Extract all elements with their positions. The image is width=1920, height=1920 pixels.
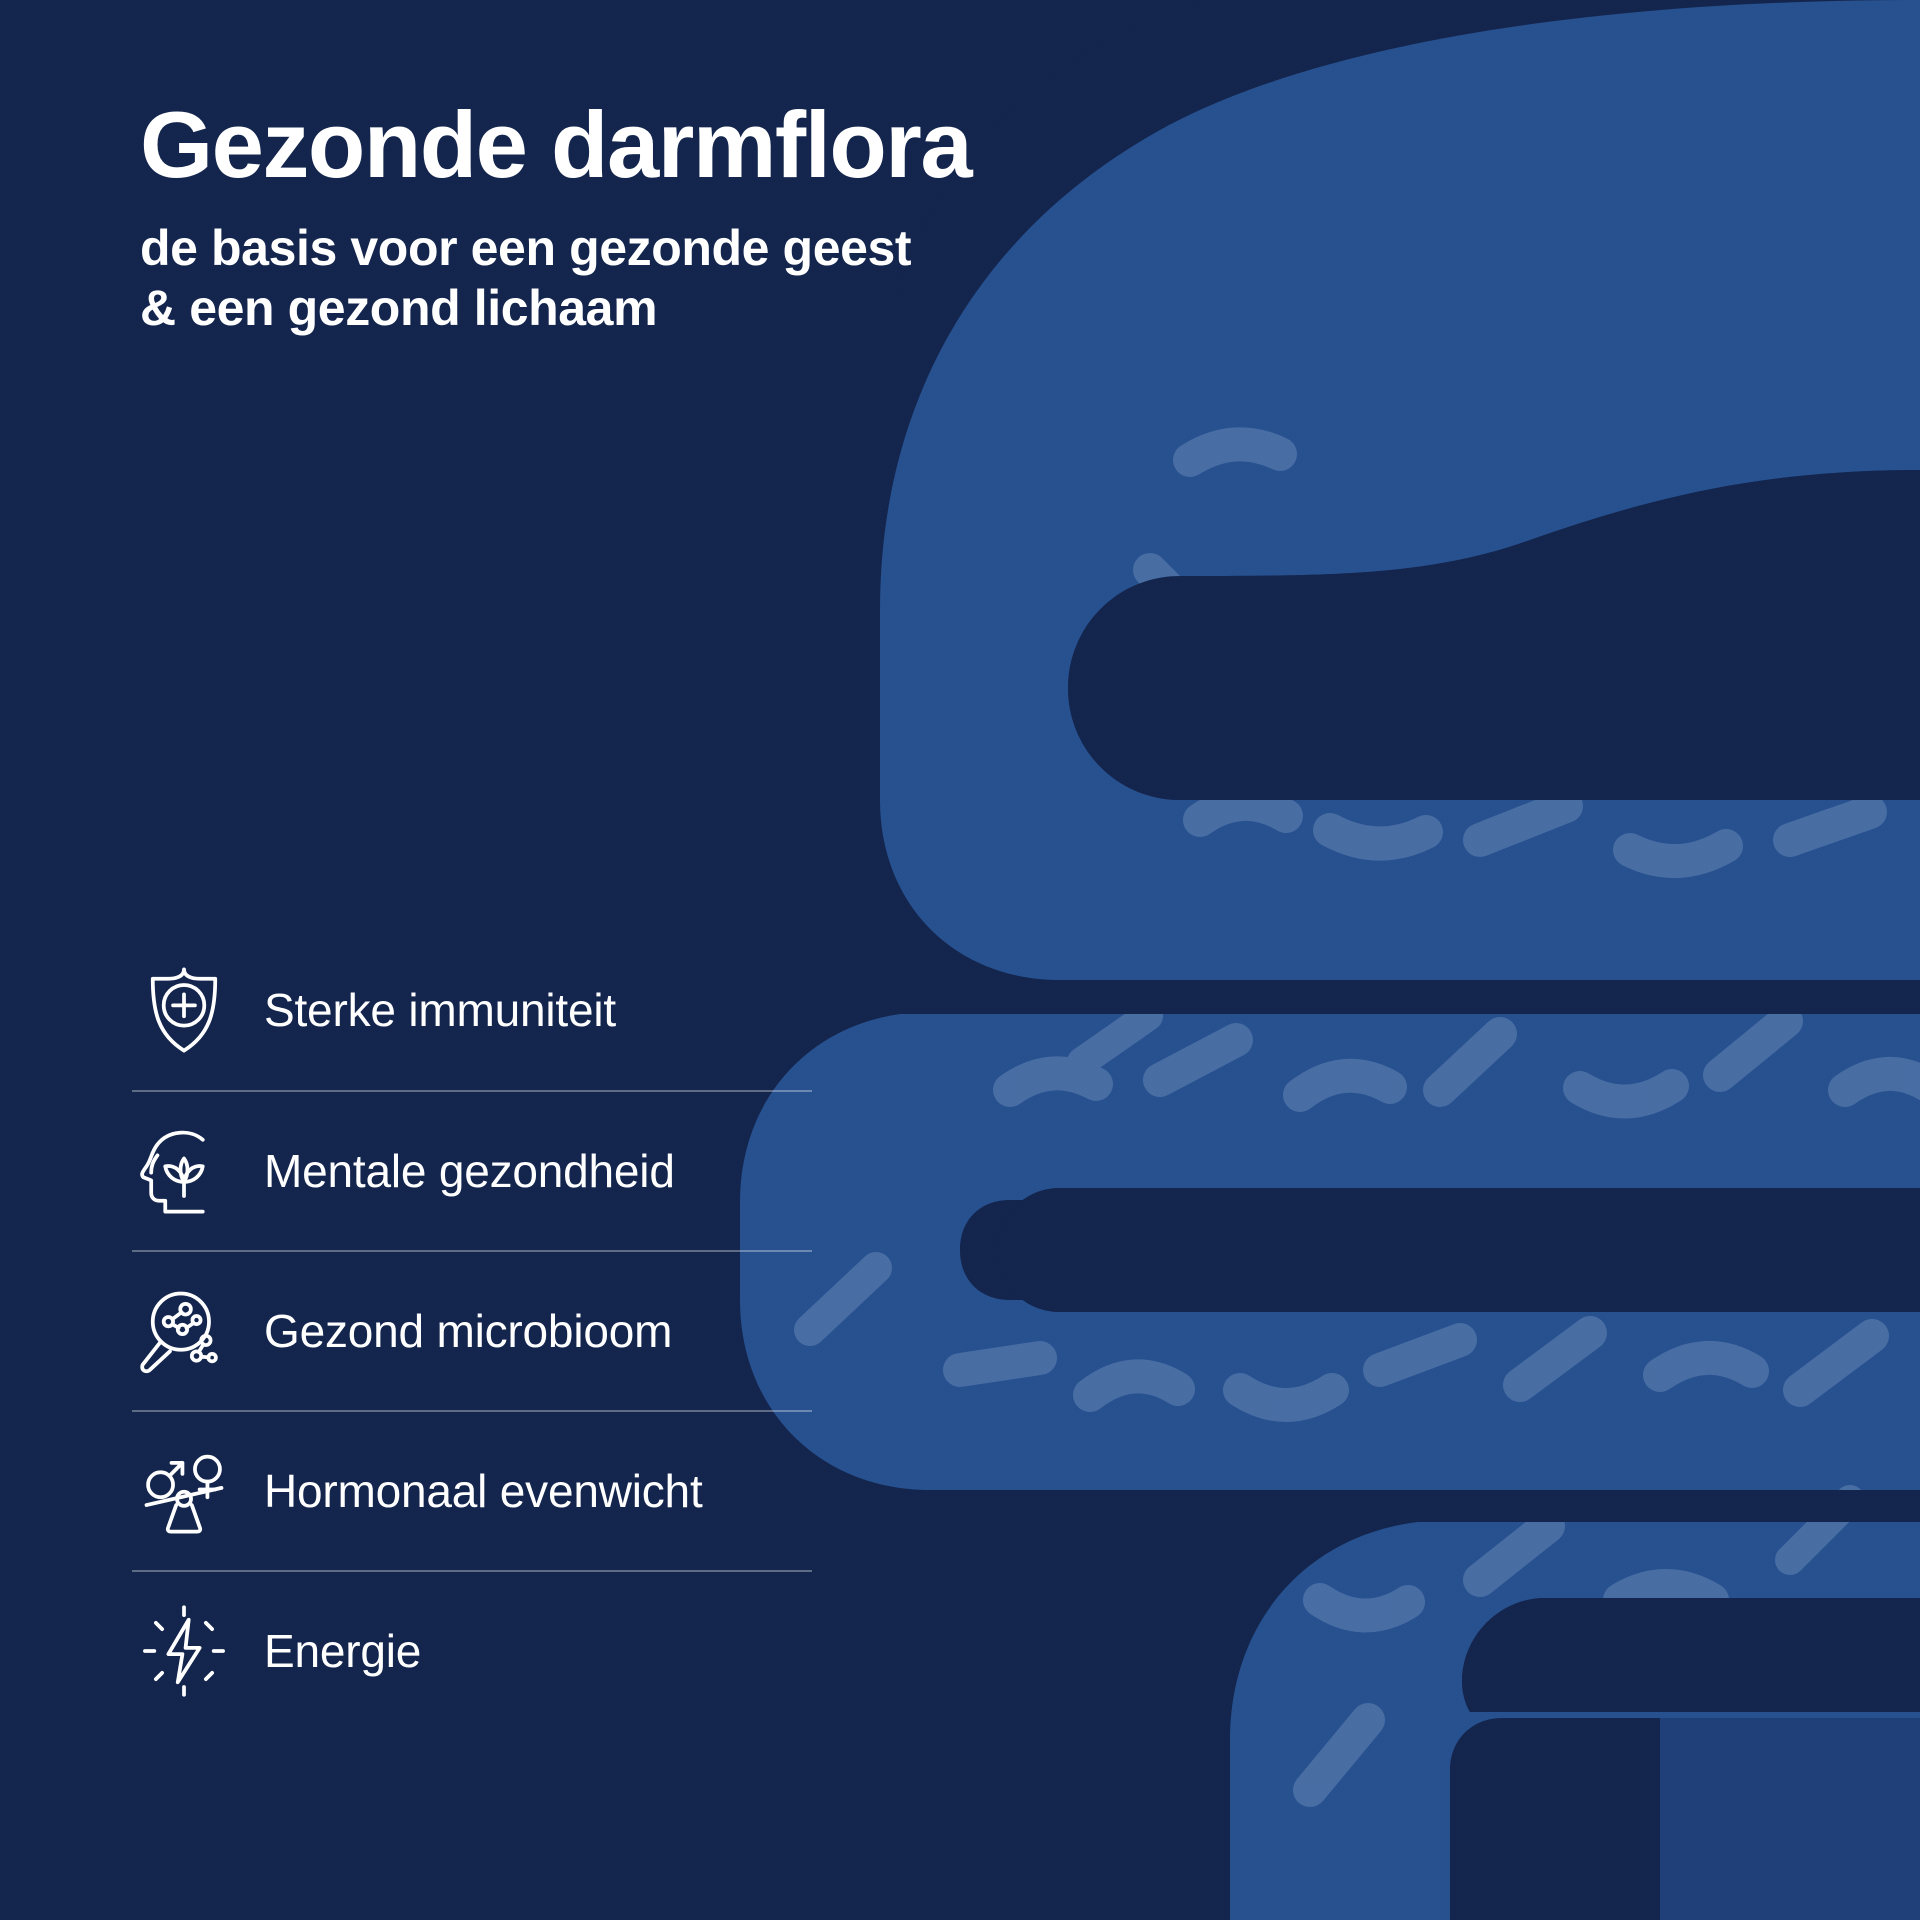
headline-block: Gezonde darmflora de basis voor een gezo… [140, 96, 1260, 338]
lightning-rays-icon [132, 1599, 236, 1703]
list-item[interactable]: Sterke immuniteit [132, 930, 812, 1090]
intestine-top-inner-notch [1068, 470, 1920, 800]
list-item[interactable]: Energie [132, 1570, 812, 1730]
bacteria-cluster [810, 444, 1920, 1790]
intestine-bottom-right-tube [1660, 1718, 1920, 1920]
page-subtitle: de basis voor een gezonde geest & een ge… [140, 218, 1260, 338]
list-item[interactable]: Hormonaal evenwicht [132, 1410, 812, 1570]
list-item-label: Gezond microbioom [264, 1304, 672, 1358]
poster-canvas: Gezonde darmflora de basis voor een gezo… [0, 0, 1920, 1920]
list-item-label: Energie [264, 1624, 421, 1678]
list-item-label: Sterke immuniteit [264, 983, 616, 1037]
list-item-label: Mentale gezondheid [264, 1144, 675, 1198]
intestine-segment-middle [740, 1012, 1920, 1490]
intestine-bottom-inner-slot [1462, 1598, 1920, 1712]
gender-balance-icon [132, 1439, 236, 1543]
intestine-middle-inner-slot [998, 1188, 1920, 1312]
magnifier-microbe-icon [132, 1279, 236, 1383]
list-item[interactable]: Gezond microbioom [132, 1250, 812, 1410]
page-title: Gezonde darmflora [140, 96, 1260, 194]
benefit-list: Sterke immuniteit Mentale gezondheid [132, 930, 812, 1730]
list-item[interactable]: Mentale gezondheid [132, 1090, 812, 1250]
shield-plus-icon [132, 958, 236, 1062]
list-item-label: Hormonaal evenwicht [264, 1464, 703, 1518]
head-lotus-icon [132, 1119, 236, 1223]
intestine-segment-bottom [1230, 1520, 1920, 1920]
